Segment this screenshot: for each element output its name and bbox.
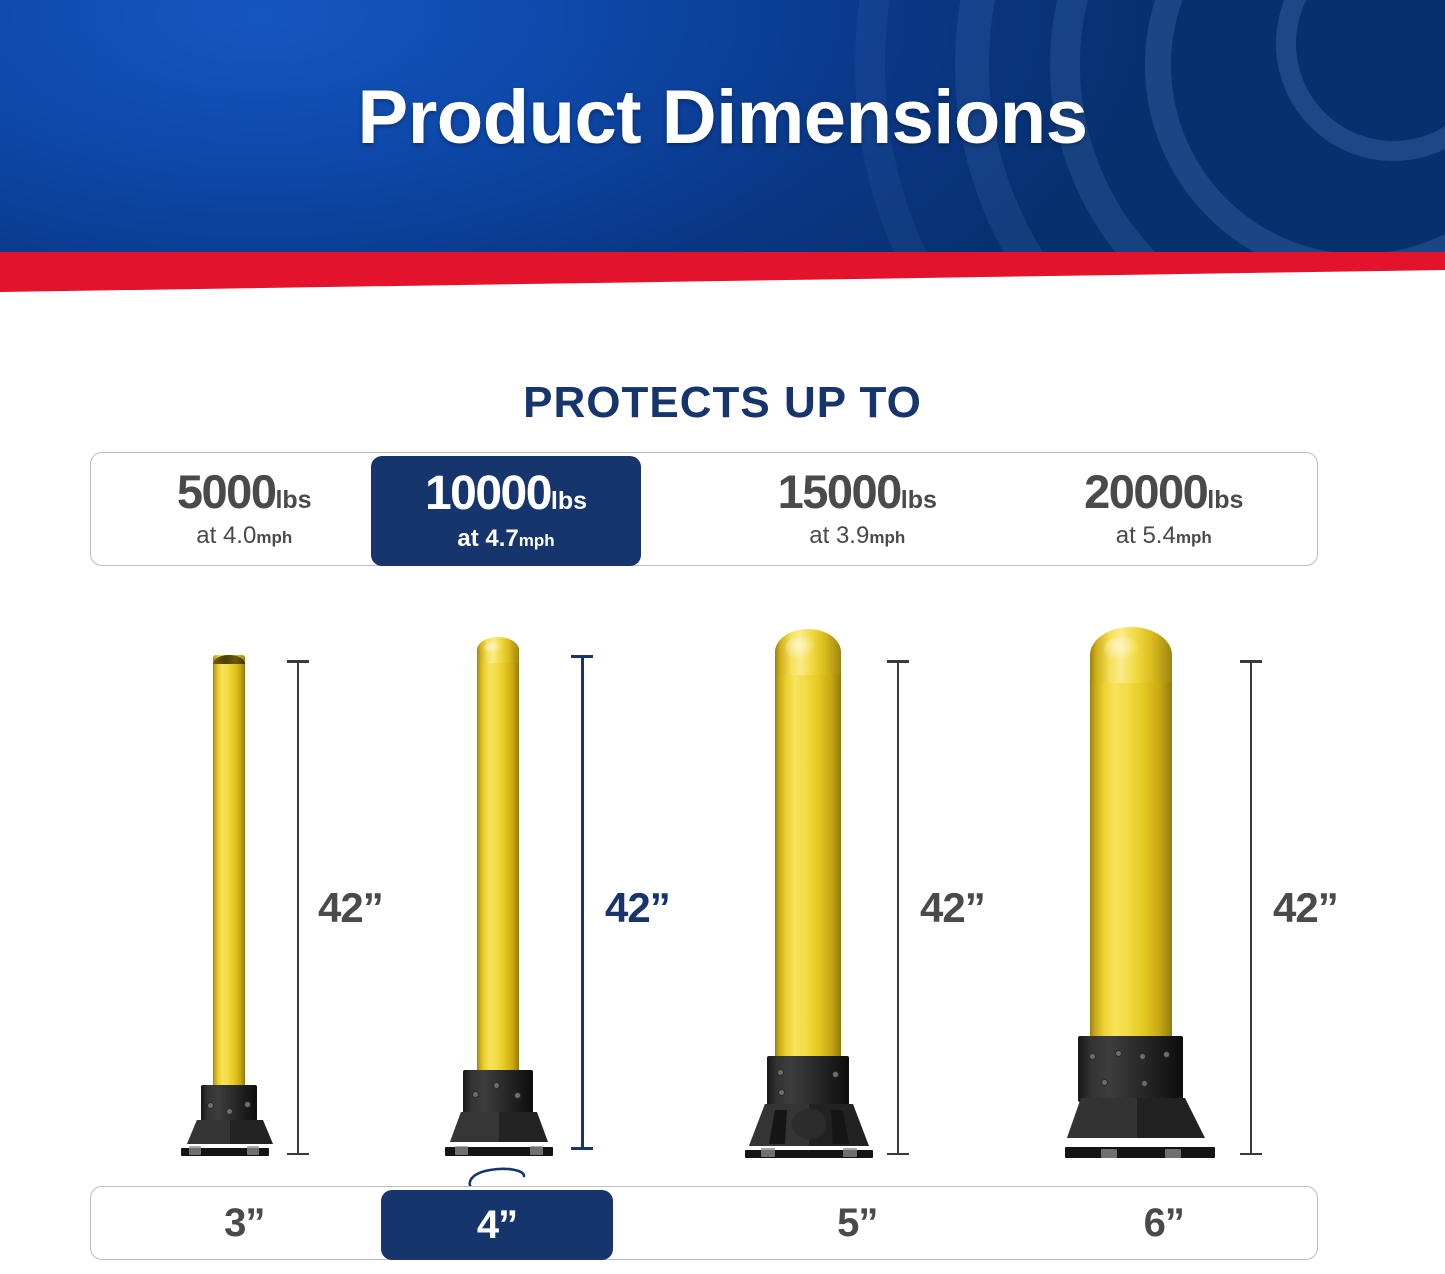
spec-weight: 10000lbs [425, 470, 587, 518]
dimension-cap-icon [1240, 660, 1262, 663]
bollard-base-collar [1078, 1036, 1183, 1102]
bollard-height-label: 42” [1273, 884, 1338, 932]
header-banner: Product Dimensions [0, 0, 1445, 258]
bolt-icon [515, 1093, 520, 1098]
spec-cell-5000lbs[interactable]: 5000lbs at 4.0mph [91, 453, 398, 565]
bollard-cap-dome-icon [477, 637, 519, 663]
bollard-illustrations: 42” 42” [0, 600, 1445, 1160]
bollard-cap-dome-icon [775, 629, 841, 675]
bolt-icon [245, 1102, 250, 1107]
dimension-cap-icon [887, 660, 909, 663]
bolt-icon [778, 1070, 783, 1075]
dome-highlight [785, 637, 817, 659]
dome-highlight [1104, 637, 1140, 661]
anchor-tab-icon [761, 1148, 775, 1157]
bolt-icon [208, 1103, 213, 1108]
spec-speed: at 4.0mph [196, 522, 292, 550]
bollard-height-label: 42” [605, 884, 670, 932]
bolt-icon [1102, 1080, 1107, 1085]
bolt-icon [833, 1072, 838, 1077]
bolt-icon [473, 1092, 478, 1097]
spec-weight: 5000lbs [177, 468, 312, 515]
diameter-cell-6in[interactable]: 6” [1011, 1187, 1318, 1259]
spec-cell-20000lbs[interactable]: 20000lbs at 5.4mph [1011, 453, 1318, 565]
anchor-tab-icon [843, 1148, 857, 1157]
dimension-cap-icon [571, 655, 593, 658]
spec-speed: at 5.4mph [1116, 522, 1212, 550]
diameter-selector-card: 3” 5” 6” 4” [90, 1186, 1318, 1260]
bollard-base-plate [447, 1112, 551, 1148]
diameter-cell-4in-selected[interactable]: 4” [381, 1190, 613, 1260]
bollard-post [477, 650, 519, 1098]
bolt-icon [494, 1083, 499, 1088]
dimension-line-height [581, 655, 584, 1150]
dimension-line-height [297, 660, 299, 1155]
dome-highlight [484, 642, 502, 654]
diameter-cell-3in[interactable]: 3” [91, 1187, 398, 1259]
bollard-5in: 42” [745, 655, 1065, 1160]
anchor-tab-icon [1101, 1149, 1117, 1158]
bolt-icon [1142, 1081, 1147, 1086]
bollard-cap-flat-icon [213, 655, 245, 664]
protects-up-to-card: 5000lbs at 4.0mph 15000lbs at 3.9mph 200… [90, 452, 1318, 566]
anchor-tab-icon [530, 1146, 543, 1155]
bollard-base-plate [1065, 1098, 1215, 1148]
anchor-tab-icon [247, 1146, 259, 1155]
dimension-line-height [897, 660, 899, 1155]
spec-weight: 20000lbs [1084, 468, 1243, 515]
dimension-cap-icon [571, 1147, 593, 1150]
anchor-tab-icon [189, 1146, 201, 1155]
spec-cell-10000lbs-selected[interactable]: 10000lbs at 4.7mph [371, 456, 641, 566]
spec-weight: 15000lbs [778, 468, 937, 515]
spec-cell-15000lbs[interactable]: 15000lbs at 3.9mph [704, 453, 1011, 565]
bolt-icon [1090, 1054, 1095, 1059]
bollard-base-plate [745, 1104, 873, 1154]
diameter-cell-5in[interactable]: 5” [704, 1187, 1011, 1259]
bolt-icon [227, 1109, 232, 1114]
bollard-6in: 42” [1065, 655, 1385, 1160]
bollard-height-label: 42” [920, 884, 985, 932]
bollard-base-collar [201, 1085, 257, 1125]
spec-speed: at 4.7mph [457, 525, 554, 553]
bolt-icon [1116, 1051, 1121, 1056]
bollard-post [213, 655, 245, 1110]
bollard-cap-dome-icon [1090, 627, 1172, 683]
red-accent-stripe [0, 252, 1445, 300]
bolt-icon [779, 1090, 784, 1095]
dimension-cap-icon [287, 1153, 309, 1156]
dimension-cap-icon [887, 1153, 909, 1156]
bollard-post [775, 652, 841, 1082]
product-dimensions-infographic: Product Dimensions PROTECTS UP TO 5000lb… [0, 0, 1445, 1274]
bollard-height-label: 42” [318, 884, 383, 932]
bollard-post [1090, 655, 1172, 1055]
spec-speed: at 3.9mph [809, 522, 905, 550]
bolt-icon [1140, 1054, 1145, 1059]
dimension-cap-icon [1240, 1153, 1262, 1156]
section-title-protects-up-to: PROTECTS UP TO [0, 378, 1445, 428]
anchor-tab-icon [455, 1146, 468, 1155]
bollard-4in-selected: 42” [445, 640, 765, 1160]
dimension-line-height [1250, 660, 1252, 1155]
dimension-cap-icon [287, 660, 309, 663]
bollard-base-collar [463, 1070, 533, 1116]
anchor-tab-icon [1165, 1149, 1181, 1158]
bollard-base-collar [767, 1056, 849, 1108]
bolt-icon [1164, 1052, 1169, 1057]
page-title: Product Dimensions [0, 74, 1445, 161]
bollard-foot-pad [1065, 1147, 1215, 1158]
